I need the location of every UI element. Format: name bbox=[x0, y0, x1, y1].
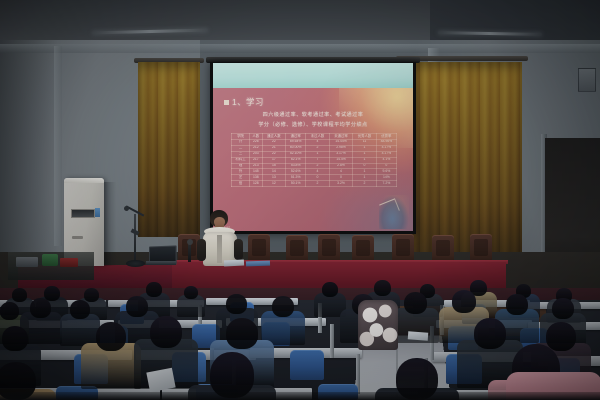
patterned-jacket-student bbox=[358, 300, 398, 350]
audience-member bbox=[396, 358, 480, 400]
microphone-pole bbox=[134, 214, 136, 266]
ac-unit-handle bbox=[72, 236, 83, 239]
student-chair[interactable] bbox=[318, 384, 358, 400]
slide-title-row: 1、学习 bbox=[224, 96, 264, 108]
table-microphone-icon bbox=[188, 242, 191, 262]
audience-member bbox=[0, 362, 76, 400]
papers-on-table bbox=[224, 259, 244, 266]
slide-decoration-graphic bbox=[379, 195, 409, 229]
slide-subtitle-line-2: 学分（必修、选修）、学校课程平均学分绩点 bbox=[213, 121, 413, 128]
ac-unit-vent bbox=[71, 209, 95, 218]
blue-folder-on-table bbox=[246, 261, 270, 267]
microphone-clamp bbox=[131, 228, 140, 235]
audience-member-head bbox=[210, 352, 254, 398]
slide-table-row: 信1281250.1%23.2%27.2% bbox=[232, 181, 397, 187]
slide-table-cell-7-4: 2 bbox=[306, 181, 330, 187]
microphone-base bbox=[126, 260, 145, 267]
slide-table-cell-7-6: 2 bbox=[353, 181, 377, 187]
audience-member-head bbox=[30, 298, 51, 318]
slide-table-cell-7-5: 3.2% bbox=[329, 181, 353, 187]
curtain-left bbox=[138, 62, 200, 237]
audience-member-head bbox=[552, 298, 574, 319]
equipment-box-red bbox=[60, 258, 78, 267]
audience-member-head bbox=[322, 282, 338, 297]
ac-unit-top bbox=[64, 178, 104, 183]
slide-table-cell-7-3: 50.1% bbox=[286, 181, 306, 187]
audience-member-head bbox=[2, 326, 28, 351]
audience-member-head bbox=[0, 362, 36, 400]
microphone-head-icon bbox=[124, 206, 129, 211]
slide-table-cell-7-1: 128 bbox=[250, 181, 263, 187]
audience-member-head bbox=[404, 292, 427, 314]
laptop-keyboard bbox=[146, 261, 176, 265]
pink-coat-student-shoulders bbox=[506, 372, 600, 400]
projection-screen: 1、学习 四六级通过率、软考通过率、考试通过率 学分（必修、选修）、学校课程平均… bbox=[213, 63, 413, 231]
audience-member-head bbox=[226, 318, 258, 349]
slide-subtitle-line-1: 四六级通过率、软考通过率、考试通过率 bbox=[213, 111, 413, 118]
equipment-box-grey bbox=[16, 257, 38, 267]
audience-member bbox=[210, 352, 298, 400]
audience-member-head bbox=[126, 296, 148, 317]
ceiling-soffit bbox=[0, 44, 600, 53]
slide-data-table: 学院人数通过人数通过率未过人数未通过率优秀人数优秀率 计2262269.64%4… bbox=[231, 133, 397, 187]
audience-member-head bbox=[396, 358, 438, 400]
audience-member-head bbox=[96, 322, 126, 351]
lecture-hall-scene: 1、学习 四六级通过率、软考通过率、考试通过率 学分（必修、选修）、学校课程平均… bbox=[0, 0, 600, 400]
audience-member-head bbox=[474, 318, 506, 349]
audience-member-head bbox=[506, 294, 528, 315]
slide-table-cell-7-7: 7.2% bbox=[376, 181, 396, 187]
audience-member-head bbox=[272, 296, 294, 317]
slide-header-band bbox=[213, 63, 413, 88]
desk-paper bbox=[408, 331, 429, 340]
audience-member-head bbox=[0, 302, 19, 320]
slide-table-cell-7-0: 信 bbox=[232, 181, 250, 187]
audience-member-head bbox=[146, 282, 162, 297]
laptop-on-table bbox=[146, 246, 176, 265]
presenter-left-arm bbox=[197, 239, 206, 261]
microphone-stand bbox=[124, 200, 146, 266]
slide-table-cell-7-2: 12 bbox=[262, 181, 286, 187]
audience-member-head bbox=[452, 290, 476, 313]
ac-unit-label bbox=[95, 208, 100, 217]
audience-member-head bbox=[150, 316, 182, 348]
desk-leg bbox=[330, 324, 334, 358]
presenter-right-arm bbox=[234, 239, 243, 260]
wall-mounted-box bbox=[578, 68, 596, 92]
wall-pillar-left bbox=[54, 46, 62, 246]
slide-title-text: 1、学习 bbox=[232, 96, 264, 108]
audience-member-head bbox=[226, 294, 247, 314]
slide-bullet-icon bbox=[224, 100, 229, 105]
equipment-box-green bbox=[42, 254, 58, 266]
audience-member-head bbox=[70, 300, 90, 319]
audience-member-head bbox=[12, 288, 27, 302]
audience-member-head bbox=[184, 286, 198, 299]
